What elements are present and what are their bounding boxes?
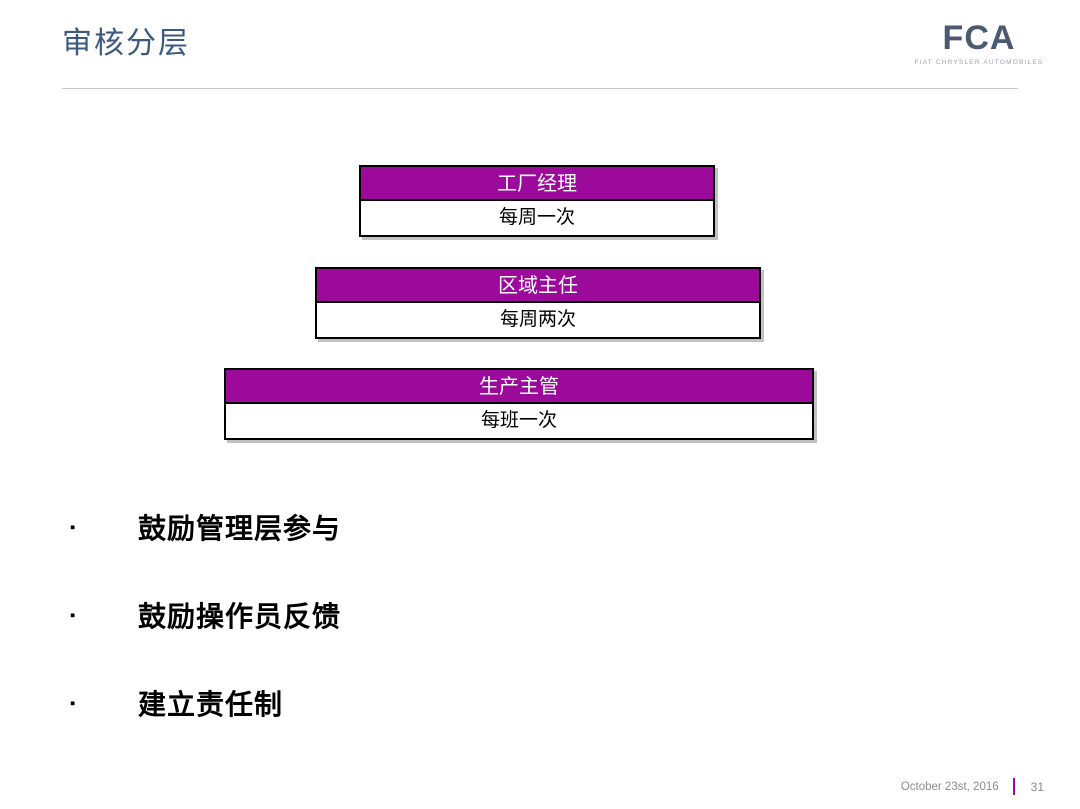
pyramid-tier-2-role: 区域主任 xyxy=(317,269,759,303)
footer-date: October 23st, 2016 xyxy=(901,781,999,793)
pyramid-tier-1-frequency: 每周一次 xyxy=(361,201,713,235)
pyramid-tier-1: 工厂经理 每周一次 xyxy=(359,165,715,237)
bullet-text-3: 建立责任制 xyxy=(138,683,283,723)
header-divider xyxy=(62,88,1018,89)
bullet-text-2: 鼓励操作员反馈 xyxy=(138,595,341,635)
list-item: ▪ 建立责任制 xyxy=(68,659,868,747)
page-title: 审核分层 xyxy=(62,18,190,62)
audit-layer-pyramid: 工厂经理 每周一次 区域主任 每周两次 生产主管 每班一次 xyxy=(0,155,1080,455)
footer-separator xyxy=(1013,778,1015,795)
list-item: ▪ 鼓励管理层参与 xyxy=(68,483,868,571)
fca-logo-mark: FCA xyxy=(914,20,1044,56)
bullet-list: ▪ 鼓励管理层参与 ▪ 鼓励操作员反馈 ▪ 建立责任制 xyxy=(68,483,868,747)
bullet-square-icon: ▪ xyxy=(68,608,138,623)
fca-logo: FCA FIAT CHRYSLER AUTOMOBILES xyxy=(914,20,1044,66)
bullet-square-icon: ▪ xyxy=(68,520,138,535)
pyramid-tier-3-role: 生产主管 xyxy=(226,370,812,404)
fca-logo-subtitle: FIAT CHRYSLER AUTOMOBILES xyxy=(914,59,1044,66)
pyramid-tier-2: 区域主任 每周两次 xyxy=(315,267,761,339)
bullet-square-icon: ▪ xyxy=(68,696,138,711)
slide-footer: October 23st, 2016 31 xyxy=(901,778,1044,795)
pyramid-tier-3-frequency: 每班一次 xyxy=(226,404,812,438)
pyramid-tier-2-frequency: 每周两次 xyxy=(317,303,759,337)
pyramid-tier-1-role: 工厂经理 xyxy=(361,167,713,201)
footer-page-number: 31 xyxy=(1031,780,1044,794)
slide: 审核分层 FCA FIAT CHRYSLER AUTOMOBILES 工厂经理 … xyxy=(0,0,1080,809)
list-item: ▪ 鼓励操作员反馈 xyxy=(68,571,868,659)
pyramid-tier-3: 生产主管 每班一次 xyxy=(224,368,814,440)
bullet-text-1: 鼓励管理层参与 xyxy=(138,507,341,547)
